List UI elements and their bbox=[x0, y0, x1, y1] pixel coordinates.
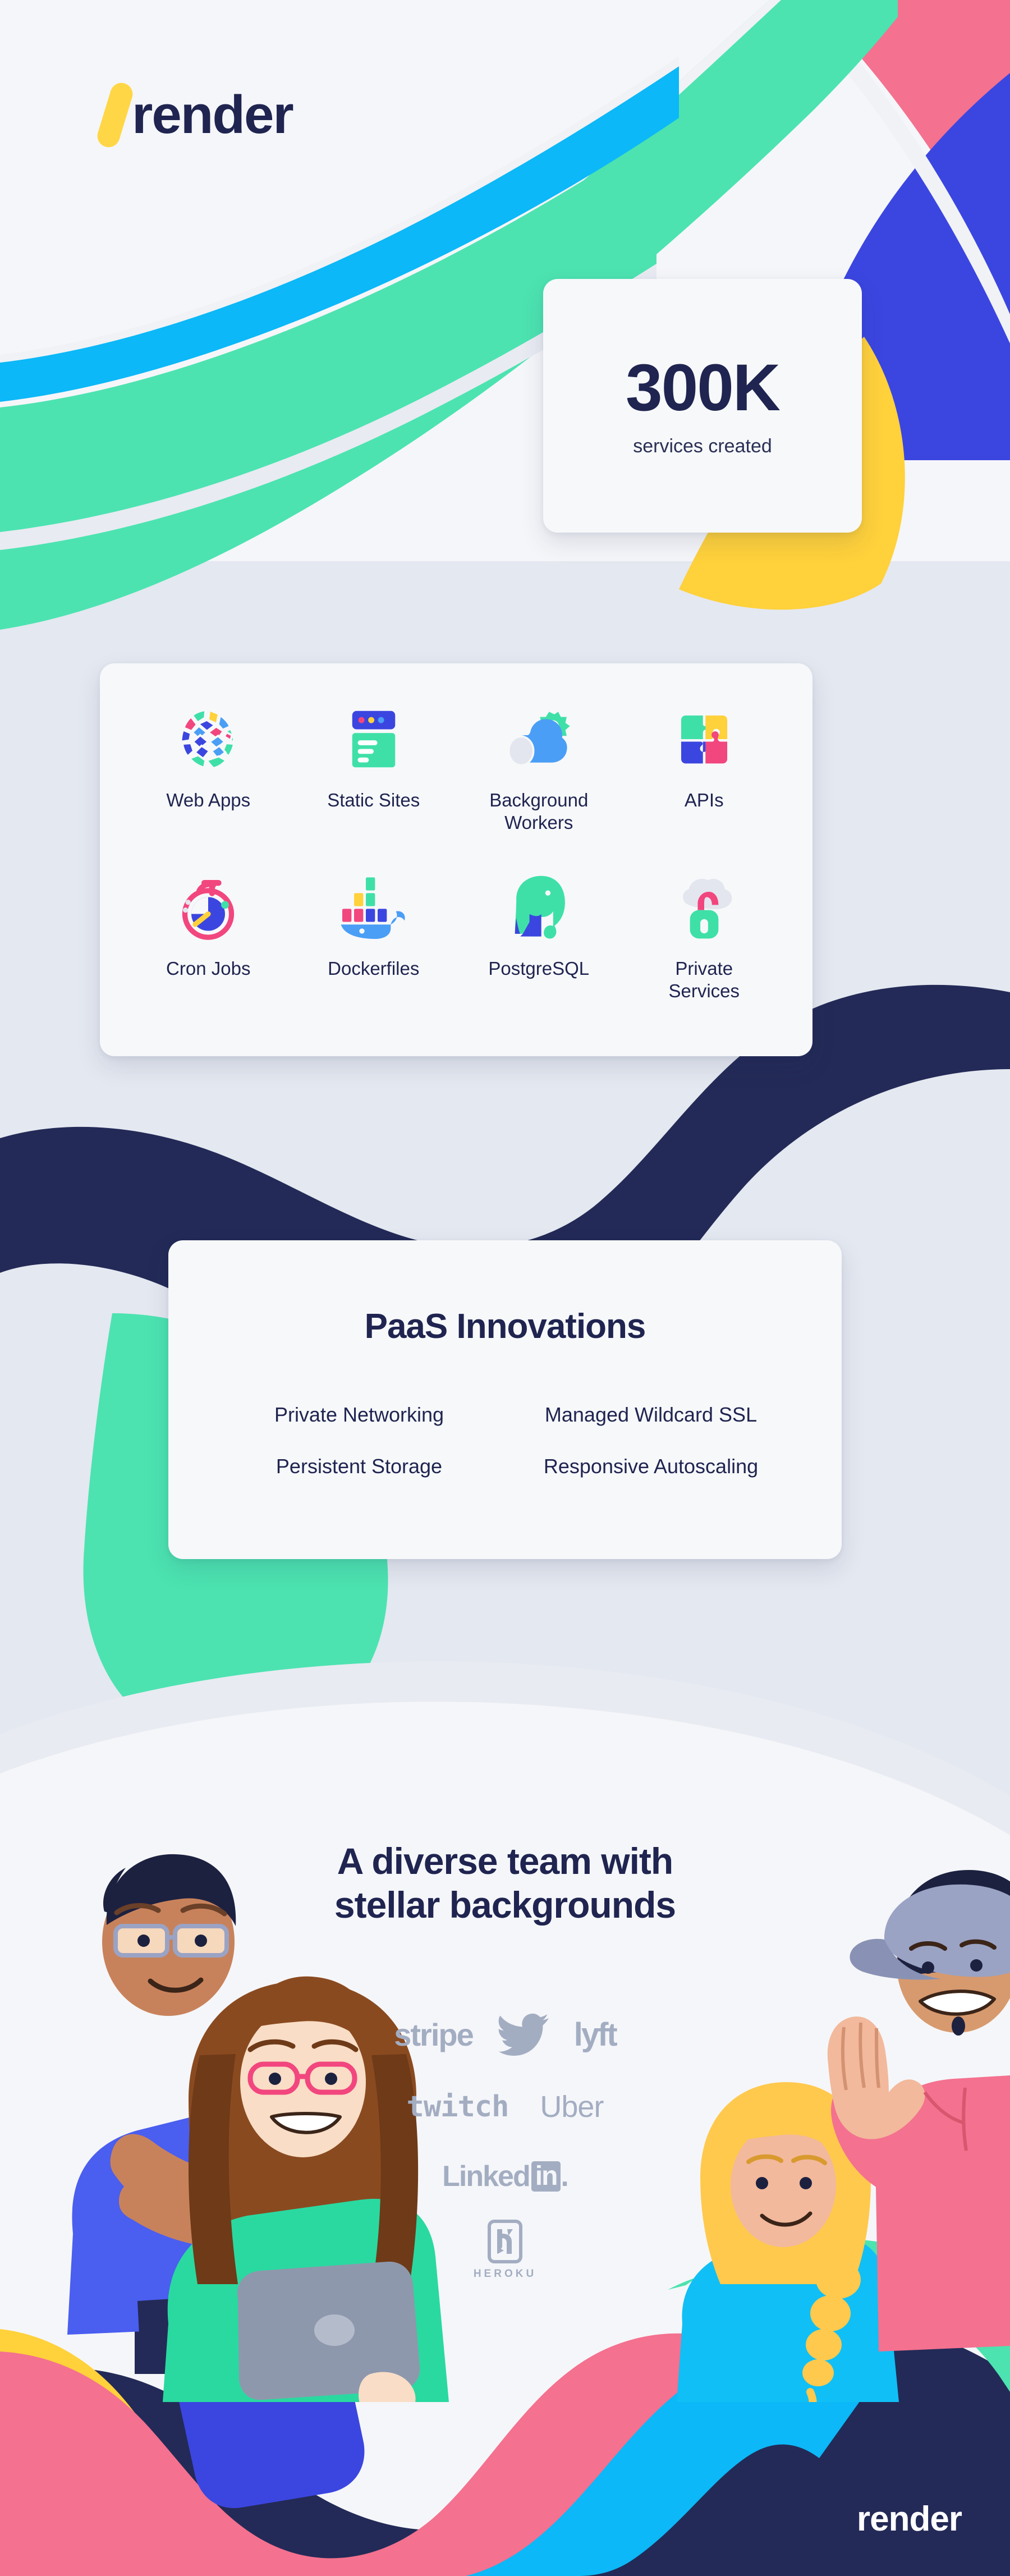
service-label: APIs bbox=[685, 789, 724, 812]
service-label: Cron Jobs bbox=[166, 957, 250, 980]
company-logo-wall: stripe lyft twitch Uber Linked in . bbox=[337, 1998, 673, 2289]
brand-wordmark: render bbox=[132, 88, 293, 142]
footer-wordmark: render bbox=[857, 2499, 962, 2539]
linkedin-logo: Linked in . bbox=[442, 2160, 568, 2193]
linkedin-in-badge: in bbox=[531, 2161, 561, 2192]
globe-grid-icon bbox=[175, 697, 241, 781]
paas-feature: Private Networking bbox=[213, 1403, 505, 1427]
heroku-logo: HEROKU bbox=[474, 2219, 536, 2280]
paas-innovations-card: PaaS Innovations Private Networking Mana… bbox=[168, 1240, 842, 1559]
paas-feature: Persistent Storage bbox=[213, 1455, 505, 1478]
paas-feature-grid: Private Networking Managed Wildcard SSL … bbox=[213, 1403, 797, 1478]
twitter-logo bbox=[498, 2013, 549, 2056]
infographic-page: render 300K services created bbox=[0, 0, 1010, 2576]
service-label: Web Apps bbox=[166, 789, 250, 812]
stat-value: 300K bbox=[626, 355, 779, 421]
cloud-lock-icon bbox=[671, 865, 737, 950]
heroku-wordmark: HEROKU bbox=[474, 2268, 536, 2280]
uber-logo: Uber bbox=[540, 2089, 603, 2124]
elephant-icon bbox=[505, 865, 572, 950]
service-item-apis[interactable]: APIs bbox=[622, 697, 787, 865]
service-item-private-services[interactable]: Private Services bbox=[622, 865, 787, 1034]
service-item-cron-jobs[interactable]: Cron Jobs bbox=[126, 865, 291, 1034]
puzzle-pieces-icon bbox=[672, 697, 736, 781]
paas-title: PaaS Innovations bbox=[168, 1307, 842, 1346]
service-label: Static Sites bbox=[327, 789, 420, 812]
browser-window-icon bbox=[343, 697, 405, 781]
brand-logo: render bbox=[104, 79, 293, 152]
service-item-postgresql[interactable]: PostgreSQL bbox=[456, 865, 622, 1034]
stopwatch-icon bbox=[175, 865, 241, 950]
linkedin-dot: . bbox=[561, 2160, 567, 2193]
stat-label: services created bbox=[633, 436, 772, 457]
cloud-gear-icon bbox=[502, 697, 575, 781]
linkedin-word: Linked bbox=[442, 2160, 530, 2193]
twitch-logo: twitch bbox=[407, 2090, 509, 2124]
stripe-logo: stripe bbox=[394, 2016, 473, 2053]
service-item-web-apps[interactable]: Web Apps bbox=[126, 697, 291, 865]
heroku-mark-icon bbox=[487, 2219, 523, 2264]
paas-feature: Managed Wildcard SSL bbox=[505, 1403, 797, 1427]
team-heading-line1: A diverse team with bbox=[0, 1840, 1010, 1883]
service-item-dockerfiles[interactable]: Dockerfiles bbox=[291, 865, 457, 1034]
service-label: Dockerfiles bbox=[328, 957, 419, 980]
docker-whale-icon bbox=[338, 865, 409, 950]
service-label: BackgroundWorkers bbox=[489, 789, 588, 835]
service-item-static-sites[interactable]: Static Sites bbox=[291, 697, 457, 865]
lyft-logo: lyft bbox=[574, 2016, 616, 2054]
stat-card: 300K services created bbox=[543, 279, 862, 533]
services-card: Web Apps Static Sites bbox=[100, 663, 812, 1056]
services-grid: Web Apps Static Sites bbox=[126, 697, 787, 1034]
paas-feature: Responsive Autoscaling bbox=[505, 1455, 797, 1478]
service-label: Private Services bbox=[640, 957, 769, 1003]
team-heading: A diverse team with stellar backgrounds bbox=[0, 1840, 1010, 1927]
team-heading-line2: stellar backgrounds bbox=[0, 1883, 1010, 1927]
service-label: PostgreSQL bbox=[488, 957, 589, 980]
service-item-background-workers[interactable]: BackgroundWorkers bbox=[456, 697, 622, 865]
